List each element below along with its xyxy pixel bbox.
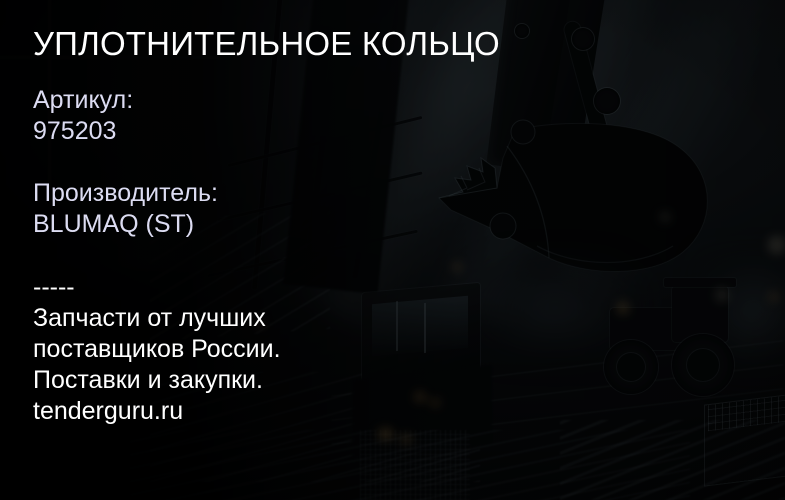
article-block: Артикул: 975203 [33, 85, 133, 147]
promo-block: Запчасти от лучших поставщиков России. П… [33, 303, 281, 427]
promo-line: Запчасти от лучших [33, 303, 281, 334]
article-value: 975203 [33, 116, 133, 147]
manufacturer-value: BLUMAQ (ST) [33, 209, 218, 240]
article-label: Артикул: [33, 85, 133, 116]
promo-site-url: tenderguru.ru [33, 396, 281, 427]
banner-content: УПЛОТНИТЕЛЬНОЕ КОЛЬЦО Артикул: 975203 Пр… [0, 0, 785, 500]
promo-line: Поставки и закупки. [33, 365, 281, 396]
manufacturer-block: Производитель: BLUMAQ (ST) [33, 178, 218, 240]
product-banner: УПЛОТНИТЕЛЬНОЕ КОЛЬЦО Артикул: 975203 Пр… [0, 0, 785, 500]
product-title: УПЛОТНИТЕЛЬНОЕ КОЛЬЦО [33, 24, 500, 64]
manufacturer-label: Производитель: [33, 178, 218, 209]
promo-line: поставщиков России. [33, 334, 281, 365]
separator-dashes: ----- [33, 272, 75, 303]
